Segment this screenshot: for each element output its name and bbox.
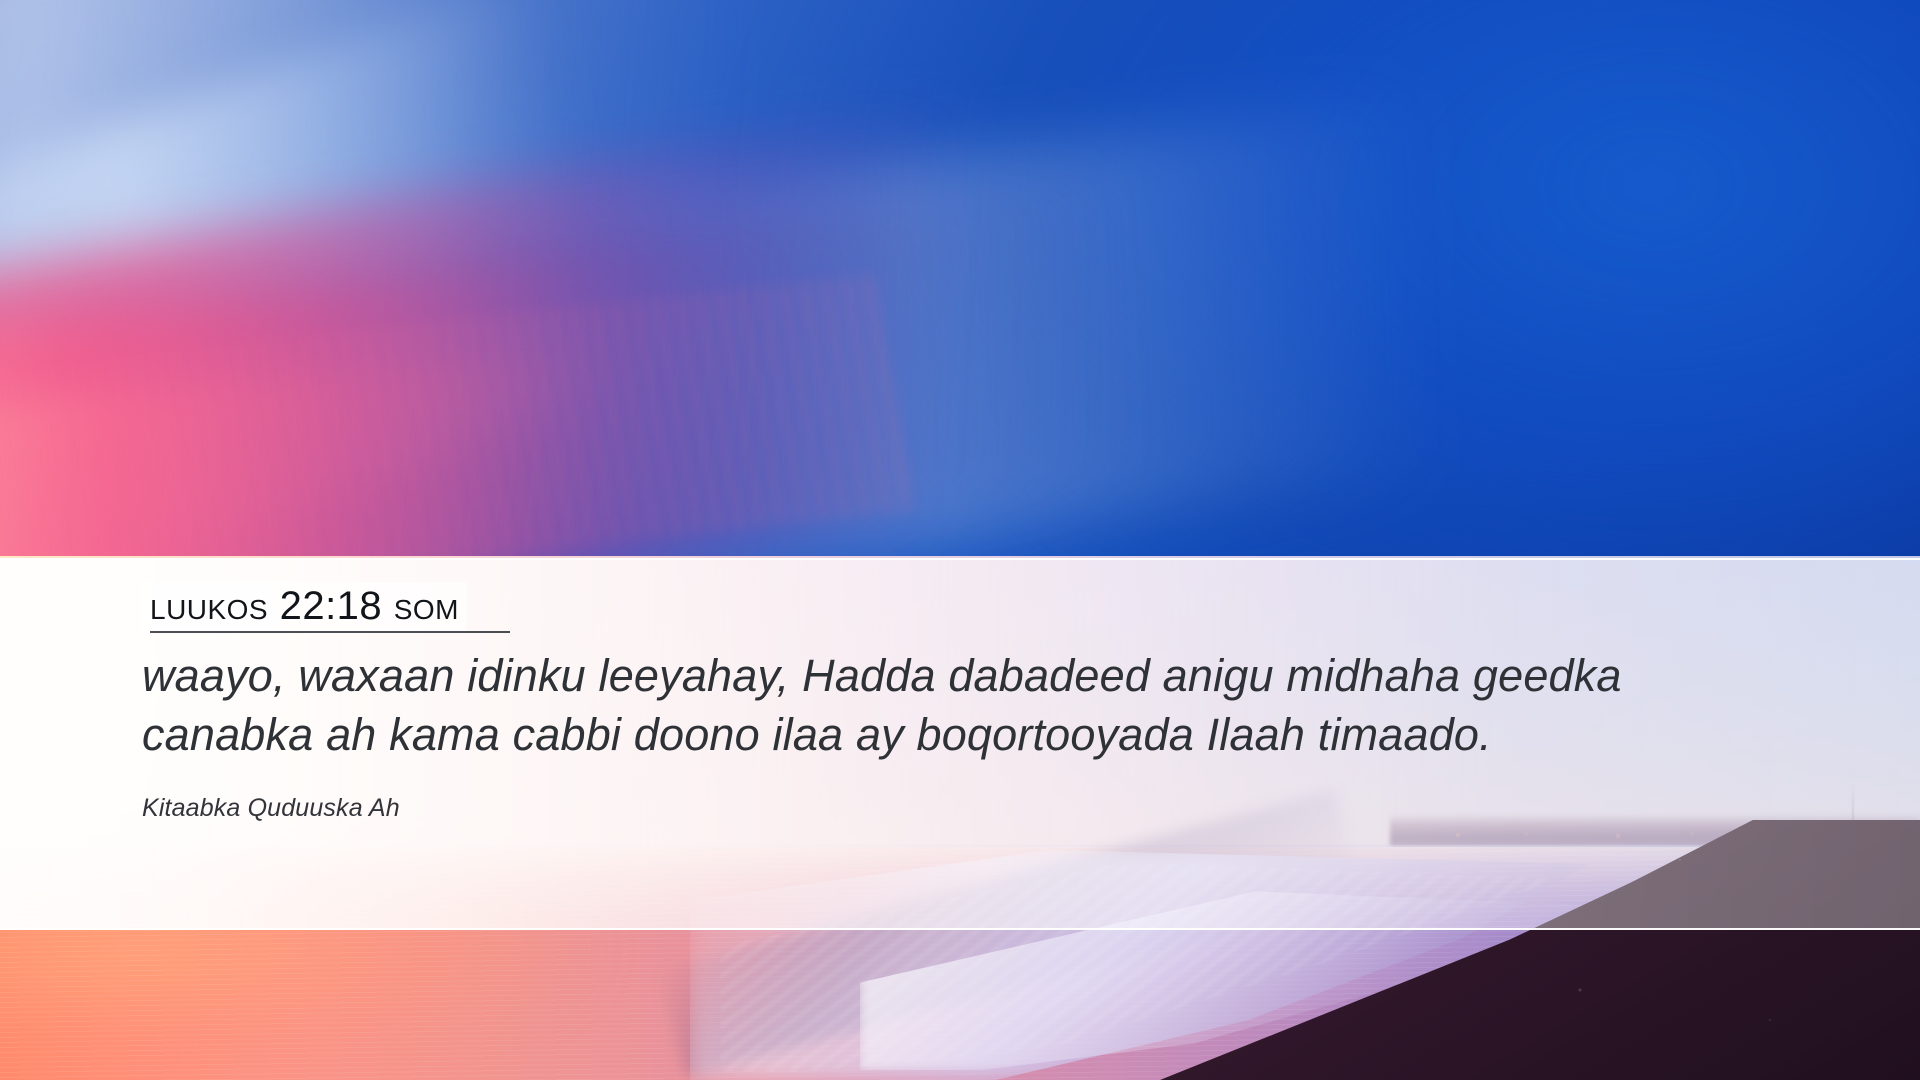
verse-image-canvas: Luukos 22:18 SOM waayo, waxaan idinku le… <box>0 0 1920 1080</box>
verse-attribution: Kitaabka Quduuska Ah <box>142 794 1920 823</box>
verse-reference-wrap: Luukos 22:18 SOM <box>142 582 467 633</box>
verse-quote-line: waayo, waxaan idinku leeyahay, Hadda dab… <box>142 650 1460 701</box>
verse-reference: Luukos 22:18 SOM <box>142 582 467 633</box>
verse-quote: waayo, waxaan idinku leeyahay, Hadda dab… <box>142 647 1732 764</box>
verse-reference-underline <box>150 631 510 633</box>
verse-content: Luukos 22:18 SOM waayo, waxaan idinku le… <box>0 558 1920 930</box>
verse-quote-line: timaado. <box>1318 709 1492 760</box>
